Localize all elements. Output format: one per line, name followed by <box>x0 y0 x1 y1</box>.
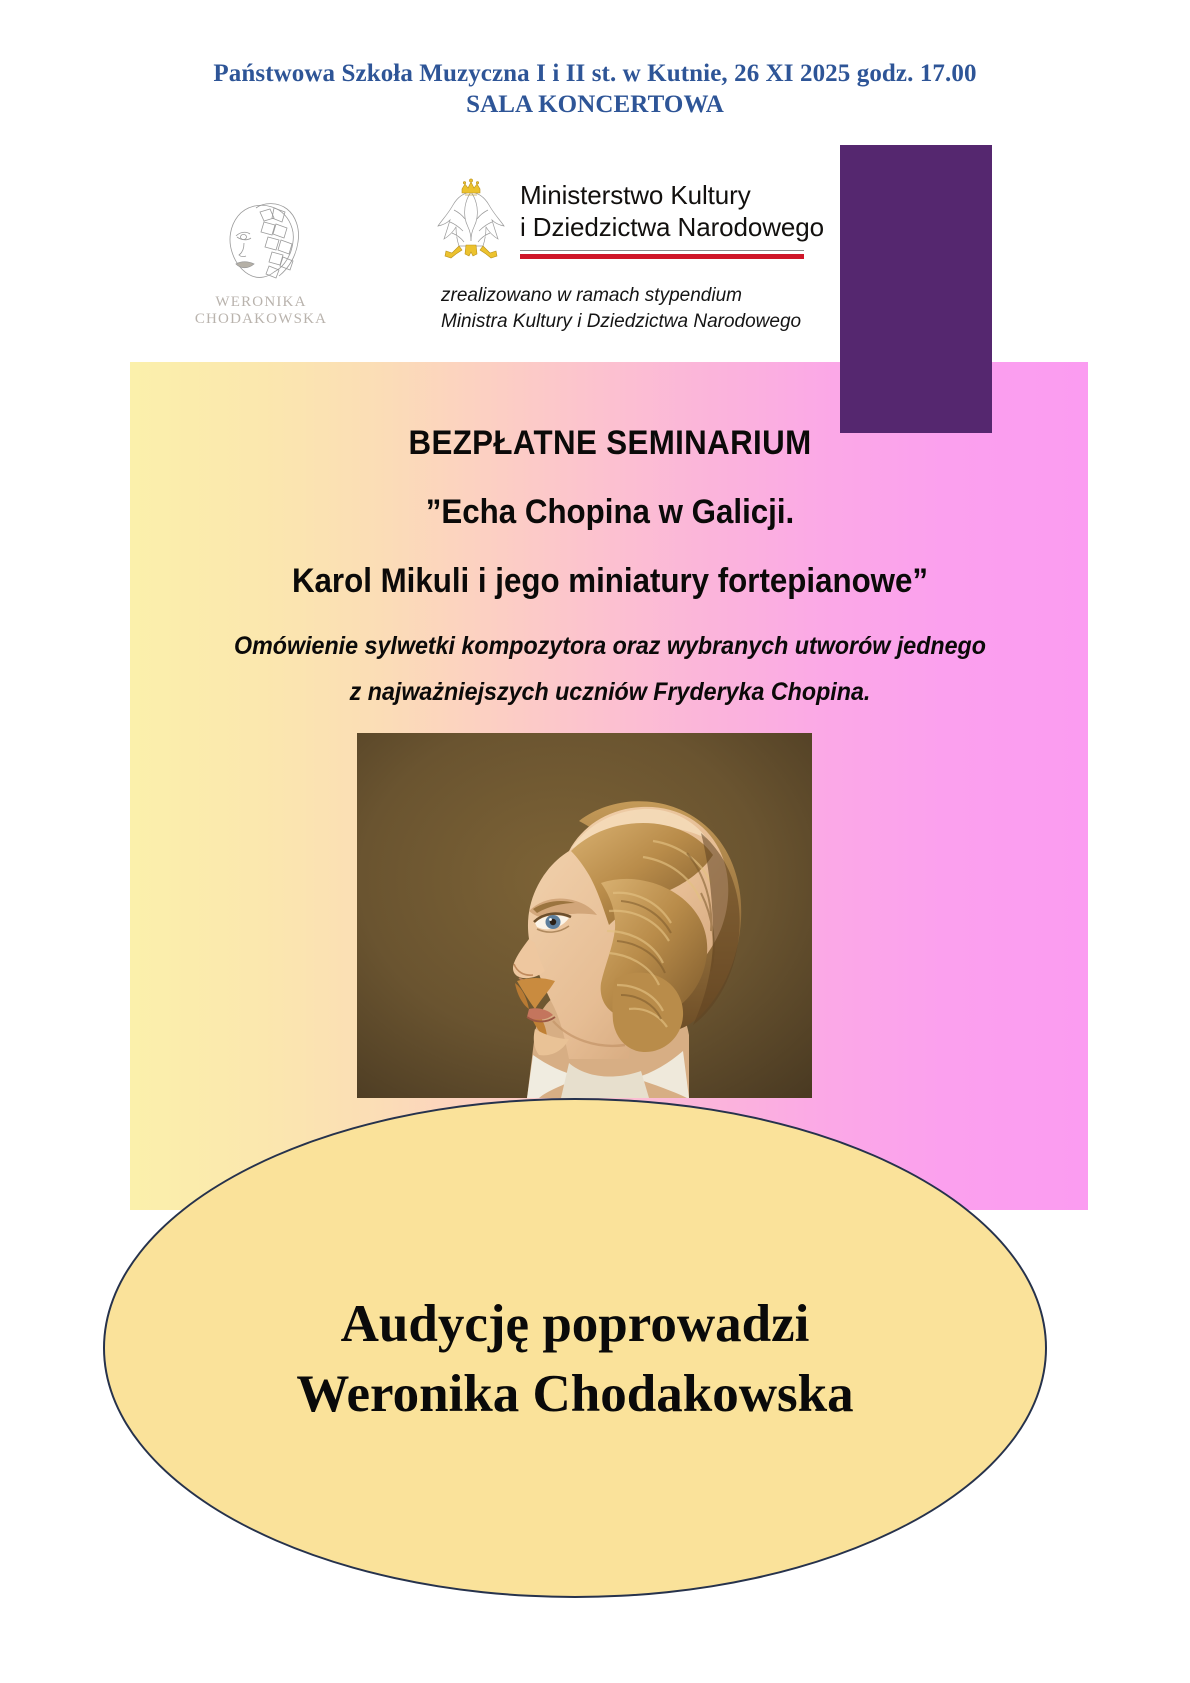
seminar-info: BEZPŁATNE SEMINARIUM ”Echa Chopina w Gal… <box>150 424 1070 716</box>
header-line-1: Państwowa Szkoła Muzyczna I i II st. w K… <box>213 60 976 87</box>
ministry-logo: Ministerstwo Kultury i Dziedzictwa Narod… <box>432 176 804 272</box>
composer-portrait <box>357 733 812 1098</box>
artist-logo-name-line-1: WERONIKA <box>186 294 336 311</box>
seminar-title-line-1: ”Echa Chopina w Galicji. <box>187 493 1033 532</box>
ministry-funding-caption: zrealizowano w ramach stypendium Ministr… <box>441 283 841 335</box>
poster-canvas: Państwowa Szkoła Muzyczna I i II st. w K… <box>0 0 1190 1683</box>
polish-eagle-emblem-icon <box>432 176 510 266</box>
artist-logo-name-line-2: CHODAKOWSKA <box>186 311 336 328</box>
seminar-description-line-2: z najważniejszych uczniów Fryderyka Chop… <box>182 669 1038 715</box>
portrait-painting-image <box>357 733 812 1098</box>
woman-face-line-art-icon <box>186 196 336 296</box>
header-line-2: SALA KONCERTOWA <box>0 89 1190 120</box>
funding-caption-line-1: zrealizowano w ramach stypendium <box>441 283 841 309</box>
ministry-rule-grey <box>520 250 804 251</box>
ministry-logo-line-2: i Dziedzictwa Narodowego <box>520 212 824 244</box>
ministry-rule-red <box>520 254 804 259</box>
ministry-logo-line-1: Ministerstwo Kultury <box>520 180 824 212</box>
purple-accent-block <box>840 145 992 433</box>
presenter-line-1: Audycję poprowadzi <box>341 1295 810 1353</box>
presenter-line-2: Weronika Chodakowska <box>0 1360 1150 1430</box>
presenter-name: Audycję poprowadzi Weronika Chodakowska <box>0 1290 1150 1430</box>
ministry-logo-wordmark: Ministerstwo Kultury i Dziedzictwa Narod… <box>520 180 824 243</box>
artist-logo: WERONIKA CHODAKOWSKA <box>186 196 336 341</box>
artist-logo-name: WERONIKA CHODAKOWSKA <box>186 294 336 328</box>
page-title: Państwowa Szkoła Muzyczna I i II st. w K… <box>0 58 1190 121</box>
seminar-description: Omówienie sylwetki kompozytora oraz wybr… <box>182 623 1038 716</box>
seminar-description-line-1: Omówienie sylwetki kompozytora oraz wybr… <box>182 623 1038 669</box>
ministry-logo-rules <box>520 250 804 259</box>
funding-caption-line-2: Ministra Kultury i Dziedzictwa Narodoweg… <box>441 309 841 335</box>
seminar-title-line-2: Karol Mikuli i jego miniatury fortepiano… <box>187 562 1033 601</box>
seminar-kicker: BEZPŁATNE SEMINARIUM <box>187 424 1033 463</box>
